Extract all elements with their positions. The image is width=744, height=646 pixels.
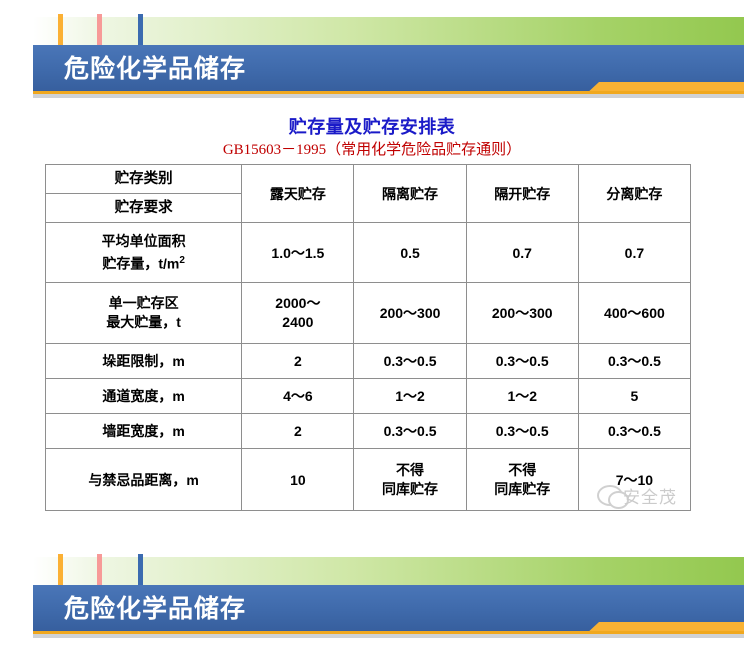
- row-label-5: 与禁忌品距离，m: [46, 449, 242, 511]
- cell-3-0: 4～6: [242, 379, 354, 414]
- column-header-2: 隔开贮存: [466, 165, 578, 223]
- banner-title-text: 危险化学品储存: [64, 54, 246, 84]
- storage-arrangement-table: 贮存类别 贮存要求 露天贮存 隔离贮存 隔开贮存 分离贮存 平均单位面积 贮存量…: [45, 164, 691, 511]
- accent-tick-pink-bottom: [97, 554, 102, 585]
- banner-grey-underline: [33, 94, 744, 98]
- table-row: 垛距限制，m 2 0.3～0.5 0.3～0.5 0.3～0.5: [46, 344, 691, 379]
- cell-0-2: 0.7: [466, 223, 578, 283]
- cell-1-0-line2: 2400: [242, 313, 353, 332]
- row-label-1-line2: 最大贮量，t: [46, 313, 241, 332]
- cell-2-0: 2: [242, 344, 354, 379]
- table-row: 与禁忌品距离，m 10 不得 同库贮存 不得 同库贮存 7～10: [46, 449, 691, 511]
- row-label-1: 单一贮存区 最大贮量，t: [46, 283, 242, 344]
- cell-0-3: 0.7: [578, 223, 690, 283]
- header-corner-top-label: 贮存类别: [46, 165, 241, 194]
- column-header-1: 隔离贮存: [354, 165, 466, 223]
- column-header-3: 分离贮存: [578, 165, 690, 223]
- cell-5-1-line2: 同库贮存: [354, 480, 465, 499]
- cell-5-1: 不得 同库贮存: [354, 449, 466, 511]
- cell-0-1: 0.5: [354, 223, 466, 283]
- cell-5-2-line2: 同库贮存: [467, 480, 578, 499]
- header-banner-bottom: 危险化学品储存: [0, 548, 744, 644]
- banner-grey-underline-bottom: [33, 634, 744, 638]
- row-label-2: 垛距限制，m: [46, 344, 242, 379]
- row-label-0-line2: 贮存量，t/m2: [46, 251, 241, 274]
- table-row: 墙距宽度，m 2 0.3～0.5 0.3～0.5 0.3～0.5: [46, 414, 691, 449]
- cell-5-3: 7～10: [578, 449, 690, 511]
- header-banner-top: 危险化学品储存: [0, 8, 744, 104]
- cell-3-1: 1～2: [354, 379, 466, 414]
- table-title: 贮存量及贮存安排表: [0, 113, 744, 139]
- row-label-1-line1: 单一贮存区: [46, 294, 241, 313]
- accent-tick-orange: [58, 14, 63, 45]
- cell-3-2: 1～2: [466, 379, 578, 414]
- cell-1-0: 2000～ 2400: [242, 283, 354, 344]
- table-header-row: 贮存类别 贮存要求 露天贮存 隔离贮存 隔开贮存 分离贮存: [46, 165, 691, 223]
- cell-2-2: 0.3～0.5: [466, 344, 578, 379]
- cell-4-2: 0.3～0.5: [466, 414, 578, 449]
- cell-4-0: 2: [242, 414, 354, 449]
- cell-2-3: 0.3～0.5: [578, 344, 690, 379]
- table-row: 平均单位面积 贮存量，t/m2 1.0～1.5 0.5 0.7 0.7: [46, 223, 691, 283]
- row-label-0-superscript: 2: [179, 255, 185, 266]
- accent-tick-blue-bottom: [138, 554, 143, 585]
- row-label-3: 通道宽度，m: [46, 379, 242, 414]
- row-label-0-line1: 平均单位面积: [46, 232, 241, 251]
- cell-4-3: 0.3～0.5: [578, 414, 690, 449]
- row-label-4: 墙距宽度，m: [46, 414, 242, 449]
- banner-title-text-bottom: 危险化学品储存: [64, 594, 246, 624]
- cell-1-1: 200～300: [354, 283, 466, 344]
- cell-2-1: 0.3～0.5: [354, 344, 466, 379]
- cell-3-3: 5: [578, 379, 690, 414]
- cell-5-2: 不得 同库贮存: [466, 449, 578, 511]
- cell-5-0: 10: [242, 449, 354, 511]
- accent-tick-blue: [138, 14, 143, 45]
- storage-table-container: 贮存类别 贮存要求 露天贮存 隔离贮存 隔开贮存 分离贮存 平均单位面积 贮存量…: [45, 164, 691, 511]
- column-header-0: 露天贮存: [242, 165, 354, 223]
- cell-1-3: 400～600: [578, 283, 690, 344]
- accent-tick-orange-bottom: [58, 554, 63, 585]
- cell-5-1-line1: 不得: [354, 461, 465, 480]
- header-corner-bottom-label: 贮存要求: [46, 194, 241, 222]
- cell-1-0-line1: 2000～: [242, 294, 353, 313]
- header-corner-cell: 贮存类别 贮存要求: [46, 165, 242, 223]
- table-row: 单一贮存区 最大贮量，t 2000～ 2400 200～300 200～300 …: [46, 283, 691, 344]
- table-row: 通道宽度，m 4～6 1～2 1～2 5: [46, 379, 691, 414]
- cell-5-2-line1: 不得: [467, 461, 578, 480]
- accent-tick-pink: [97, 14, 102, 45]
- cell-1-2: 200～300: [466, 283, 578, 344]
- cell-4-1: 0.3～0.5: [354, 414, 466, 449]
- cell-0-0: 1.0～1.5: [242, 223, 354, 283]
- row-label-0: 平均单位面积 贮存量，t/m2: [46, 223, 242, 283]
- table-subtitle: GB15603－1995（常用化学危险品贮存通则）: [0, 138, 744, 159]
